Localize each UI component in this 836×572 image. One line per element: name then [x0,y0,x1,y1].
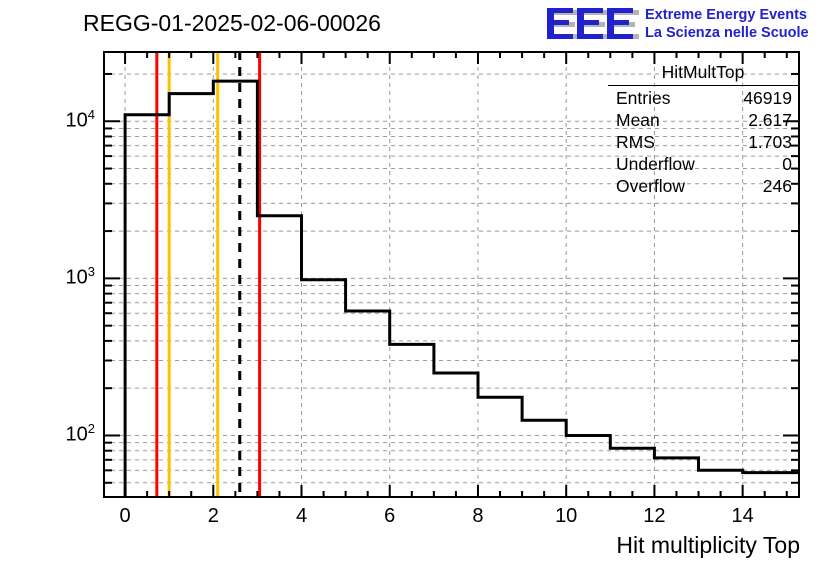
y-tick-mantissa: 10 [66,424,88,446]
y-tick-exponent: 3 [88,264,95,279]
stats-row-overflow: Overflow 246 [608,176,798,198]
y-tick-mantissa: 10 [66,110,88,132]
x-tick-label-2: 2 [183,505,243,528]
stats-value: 246 [763,176,792,197]
stats-value: 1.703 [748,132,792,153]
stats-key: Overflow [616,176,685,197]
x-tick-label-4: 4 [272,505,332,528]
stats-row-mean: Mean 2.617 [608,110,798,132]
x-tick-label-10: 10 [536,505,596,528]
stats-name: HitMultTop [608,62,798,86]
x-tick-label-6: 6 [360,505,420,528]
stats-value: 2.617 [748,110,792,131]
stats-key: Underflow [616,154,695,175]
stats-row-underflow: Underflow 0 [608,154,798,176]
x-tick-label-8: 8 [448,505,508,528]
y-tick-label-1e4: 104 [66,107,95,133]
root-canvas: REGG-01-2025-02-06-00026 [0,0,836,572]
stats-row-rms: RMS 1.703 [608,132,798,154]
stats-value: 0 [782,154,792,175]
stats-key: RMS [616,132,655,153]
y-tick-label-1e3: 103 [66,264,95,290]
y-tick-label-1e2: 102 [66,421,95,447]
x-axis-title: Hit multiplicity Top [616,532,800,559]
y-tick-mantissa: 10 [66,267,88,289]
x-tick-label-12: 12 [624,505,684,528]
x-tick-label-14: 14 [713,505,773,528]
stats-key: Mean [616,110,660,131]
x-tick-label-0: 0 [95,505,155,528]
stats-box: HitMultTop Entries 46919 Mean 2.617 RMS … [608,62,798,200]
stats-key: Entries [616,88,670,109]
stats-value: 46919 [743,88,792,109]
y-tick-exponent: 4 [88,107,95,122]
y-tick-exponent: 2 [88,421,95,436]
stats-row-entries: Entries 46919 [608,88,798,110]
